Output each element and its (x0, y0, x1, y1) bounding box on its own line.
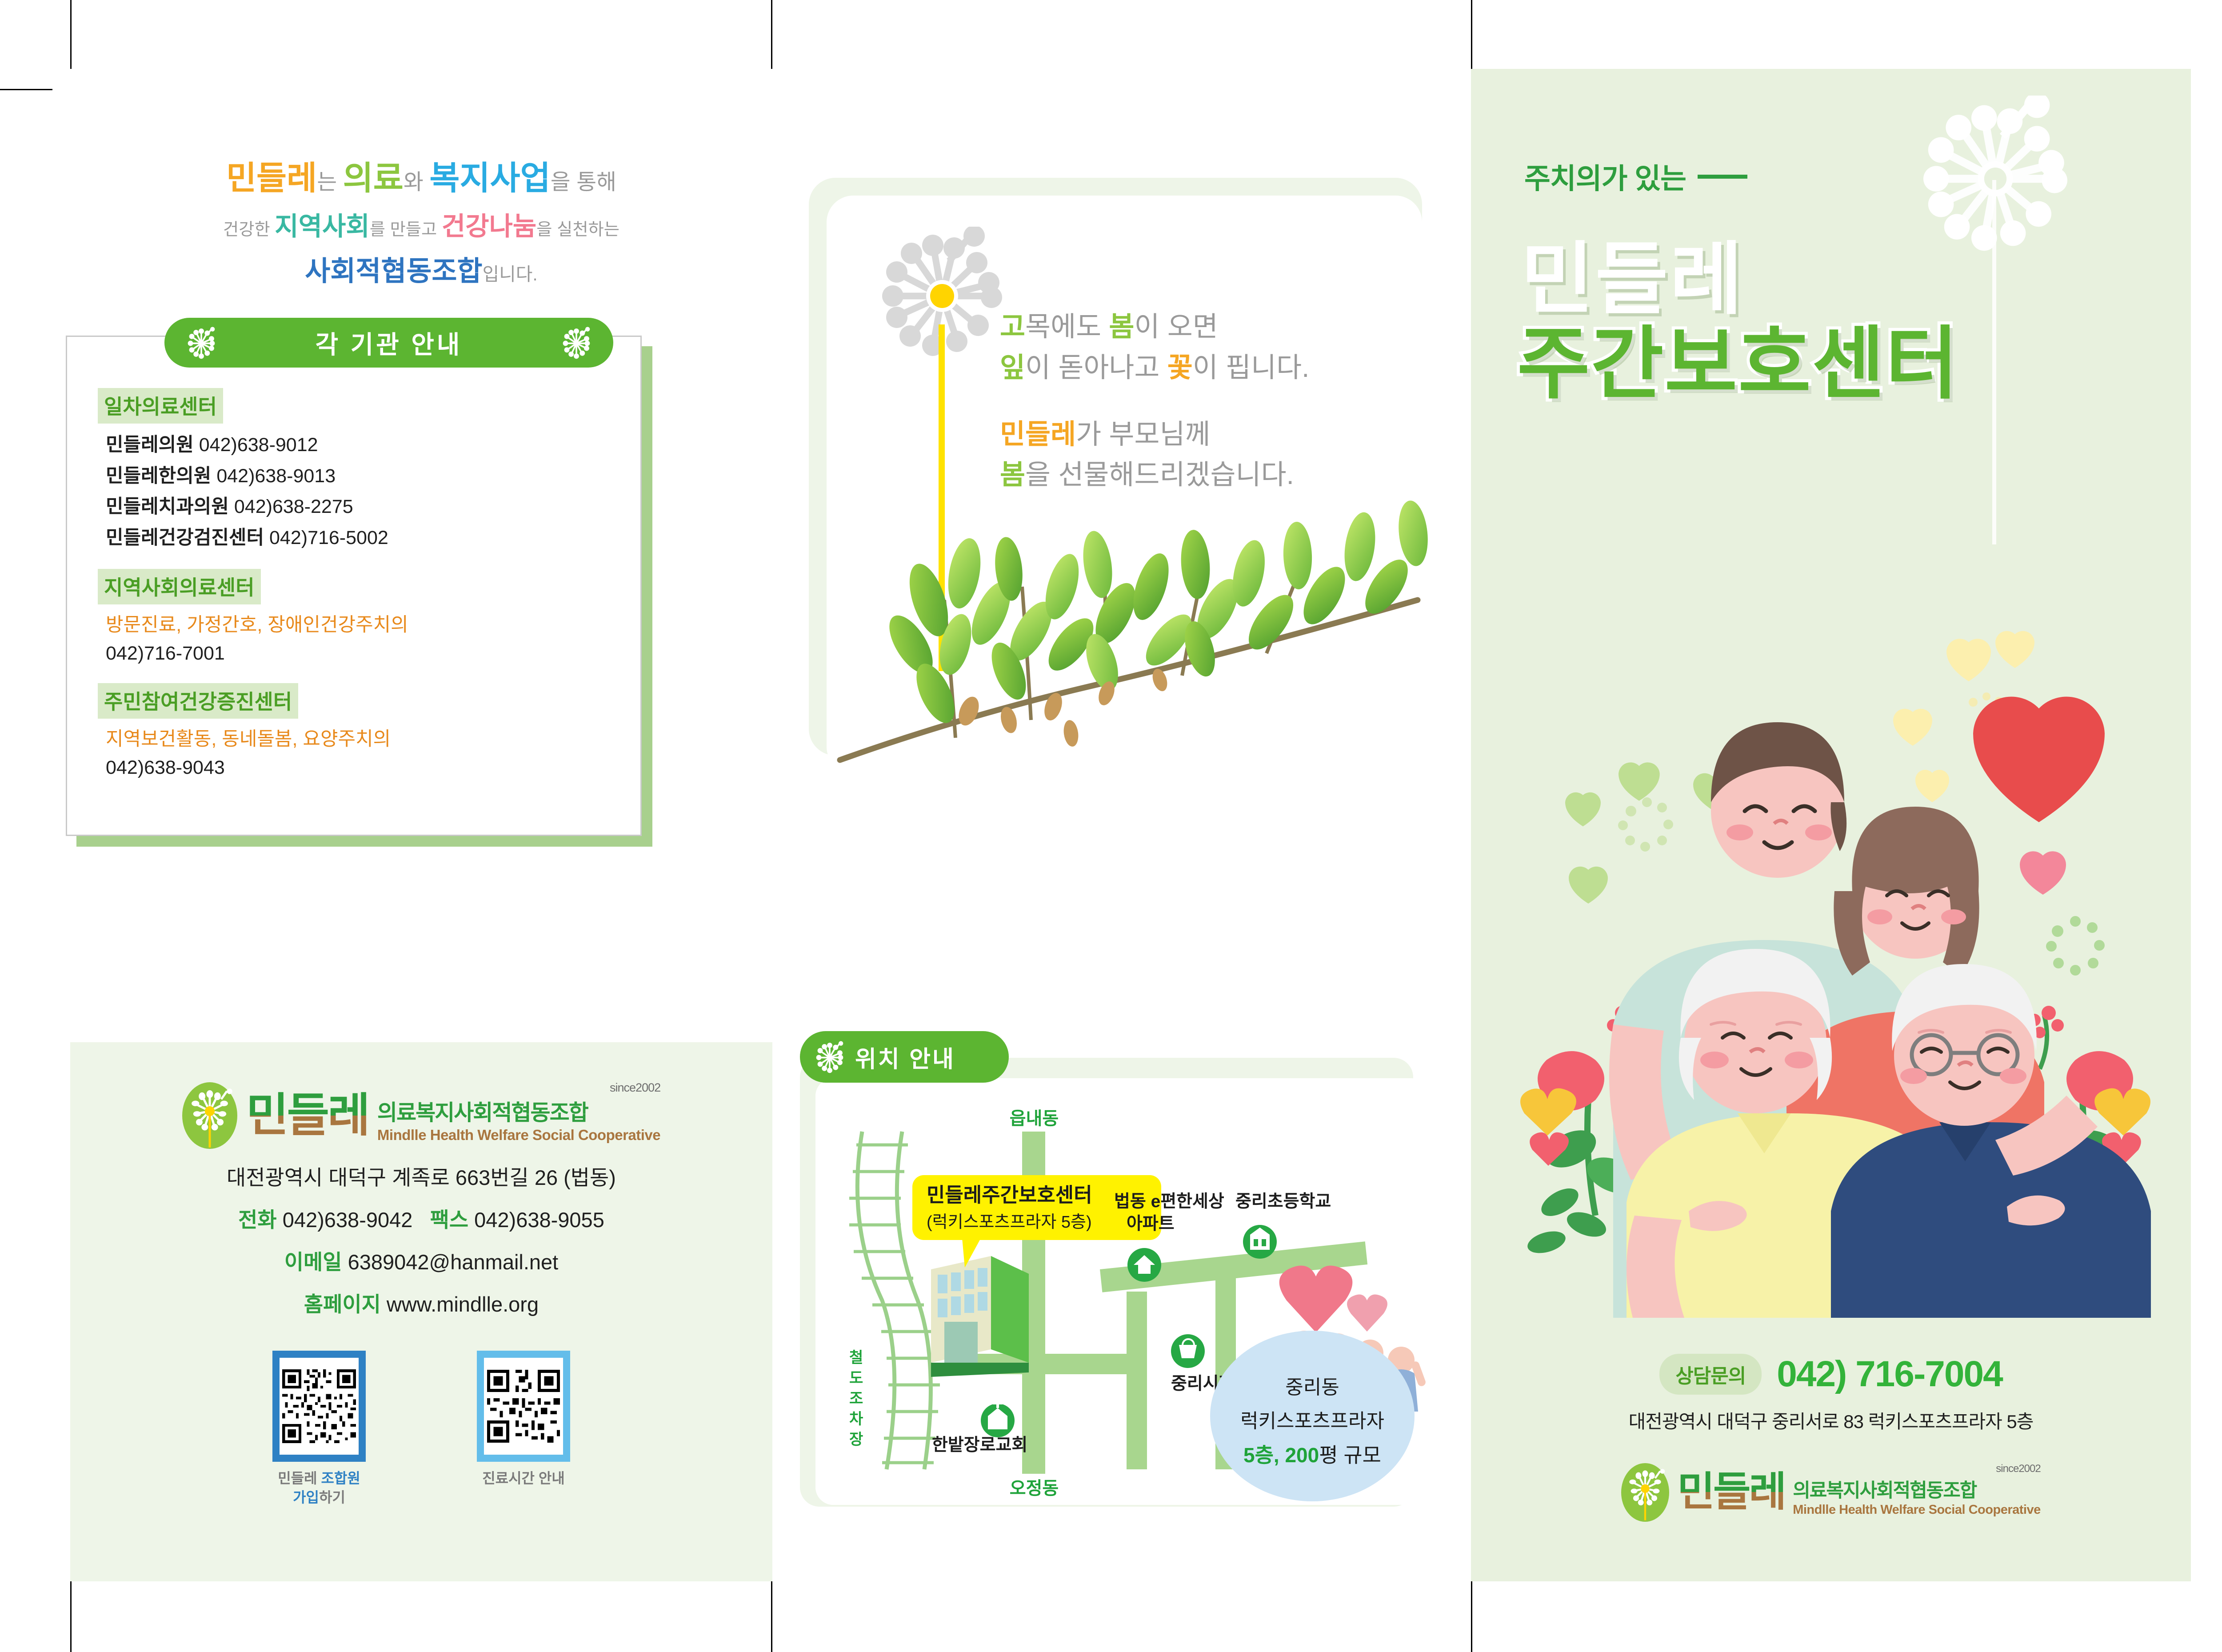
map-label-church: 한밭장로교회 (932, 1436, 1027, 1455)
qr-membership[interactable]: 민들레 조합원 가입하기 (272, 1351, 366, 1507)
message-line-3: 민들레가 부모님께 (1000, 414, 1400, 455)
map-header-pill: 위치 안내 (800, 1031, 1009, 1083)
message-line-1: 고목에도 봄이 오면 (1000, 307, 1400, 348)
service-tel: 042)638-9043 (106, 753, 613, 782)
consult-tel: 042) 716-7004 (1777, 1353, 2002, 1395)
crop-mark-top-right-v (1471, 0, 1472, 69)
crop-mark-bot-left-v (70, 1581, 72, 1652)
cover-address: 대전광역시 대덕구 중리서로 83 럭키스포츠프라자 5층 (1471, 1407, 2191, 1434)
homepage-value: www.mindlle.org (387, 1292, 539, 1316)
brand-subtitle-kr: 의료복지사회적협동조합 (377, 1095, 660, 1127)
text-run: 꽃 (1167, 352, 1193, 383)
text-run: 가 부모님께 (1076, 419, 1210, 450)
svg-text:장: 장 (849, 1431, 863, 1448)
map-bubble-line2: 럭키스포츠프라자 (1240, 1410, 1384, 1432)
institution-guide-panel: 민들레는 의료와 복지사업을 통해 건강한 지역사회를 만들고 건강나눔을 실천… (70, 69, 772, 1042)
clinic-tel: 042)638-9012 (199, 434, 318, 456)
clinic-name: 민들레한의원 (106, 465, 211, 487)
crop-mark-bot-right-v (1471, 1581, 1472, 1652)
clinic-tel: 042)638-9013 (216, 465, 336, 487)
section-title: 주민참여건강증진센터 (98, 683, 298, 719)
fax-label: 팩스 (430, 1208, 468, 1232)
qr-caption-part: 민들레 (278, 1470, 321, 1486)
brand-logo-side: since2002 의료복지사회적협동조합 Mindlle Health Wel… (377, 1088, 660, 1144)
text-run: 건강나눔 (442, 212, 536, 241)
dandelion-icon (813, 1040, 846, 1073)
list-item: 민들레치과의원 042)638-2275 (106, 492, 613, 523)
crop-mark-top-left-v (70, 0, 72, 69)
text-run: 목에도 (1025, 312, 1109, 342)
text-run: 민들레 (1000, 419, 1076, 450)
map-bubble-line1: 중리동 (1285, 1376, 1339, 1398)
list-item: 민들레한의원 042)638-9013 (106, 461, 613, 492)
phone-value: 042)638-9042 (283, 1208, 413, 1232)
consult-row: 상담문의 042) 716-7004 (1471, 1353, 2191, 1395)
dandelion-stem (1992, 180, 1996, 544)
clinic-tel: 042)638-2275 (234, 496, 353, 517)
guide-header-label: 각 기관 안내 (316, 325, 463, 361)
map-graphic[interactable]: 민들레주간보호센터 (럭키스포츠프라자 5층) 읍내동 오정동 철 도 조 차 … (815, 1078, 1429, 1505)
text-run: 를 만들고 (370, 220, 442, 239)
cover-dash (1698, 175, 1747, 179)
text-run: 을 실천하는 (536, 220, 619, 239)
family-illustration (1480, 624, 2191, 1318)
tagline-block: 민들레는 의료와 복지사업을 통해 건강한 지역사회를 만들고 건강나눔을 실천… (70, 158, 772, 289)
list-item: 민들레건강검진센터 042)716-5002 (106, 523, 613, 554)
tagline-line-3: 사회적협동조합입니다. (70, 254, 772, 289)
map-header-label: 위치 안내 (855, 1040, 955, 1074)
email-value: 6389042@hanmail.net (348, 1250, 559, 1274)
cover-subtitle-text: 주치의가 있는 (1524, 156, 1686, 197)
service-tel: 042)716-7001 (106, 639, 613, 668)
location-map-panel: 위치 안내 (800, 1031, 1431, 1520)
org-address: 대전광역시 대덕구 계족로 663번길 26 (법동) (70, 1160, 772, 1191)
message-card-panel: 고목에도 봄이 오면 잎이 돋아나고 꽃이 핍니다. 민들레가 부모님께 봄을 … (809, 178, 1422, 827)
guide-sections: 일차의료센터 민들레의원 042)638-9012 민들레한의원 042)638… (98, 388, 613, 797)
guide-header-pill: 각 기관 안내 (164, 318, 613, 368)
map-label-railyard: 철 도 조 차 장 (849, 1349, 863, 1448)
clinic-tel: 042)716-5002 (269, 527, 388, 548)
crop-mark-top-left-h (0, 89, 52, 90)
qr-caption-highlight: 조합원 (321, 1470, 360, 1486)
brand-logo-side: since2002 의료복지사회적협동조합 Mindlle Health Wel… (1793, 1468, 2041, 1517)
text-run: 건강한 (223, 220, 275, 239)
cover-subtitle: 주치의가 있는 (1524, 156, 1747, 197)
text-run: 사회적협동조합 (305, 256, 482, 287)
brand-subtitle-en: Mindlle Health Welfare Social Cooperativ… (377, 1127, 660, 1144)
qr-hours[interactable]: 진료시간 안내 (477, 1351, 570, 1507)
brand-name-kr: 민들레 (246, 1090, 368, 1141)
section-title: 지역사회의료센터 (98, 569, 261, 604)
text-run: 는 (317, 170, 343, 194)
crop-mark-top-mid-v (771, 0, 772, 69)
cover-contact-block: 상담문의 042) 716-7004 대전광역시 대덕구 중리서로 83 럭키스… (1471, 1353, 2191, 1522)
brand-subtitle-kr: 의료복지사회적협동조합 (1793, 1475, 2041, 1503)
tagline-line-1: 민들레는 의료와 복지사업을 통해 (70, 158, 772, 199)
svg-text:차: 차 (849, 1411, 863, 1428)
organization-info-panel: 민들레 since2002 의료복지사회적협동조합 Mindlle Health… (70, 1042, 772, 1581)
dandelion-logo-icon (1621, 1463, 1669, 1522)
brand-logo-korean: 민들레 (1677, 1473, 1785, 1512)
map-label-south: 오정동 (1010, 1479, 1059, 1498)
map-callout-sub: (럭키스포츠프라자 5층) (927, 1213, 1092, 1232)
tagline-line-2: 건강한 지역사회를 만들고 건강나눔을 실천하는 (70, 211, 772, 243)
brand-logo: 민들레 since2002 의료복지사회적협동조합 Mindlle Health… (70, 1082, 772, 1149)
brand-subtitle-en: Mindlle Health Welfare Social Cooperativ… (1793, 1503, 2041, 1517)
text-run: 잎 (1000, 352, 1025, 383)
brand-logo-korean: 민들레 (246, 1094, 368, 1138)
service-names: 방문진료, 가정간호, 장애인건강주치의 (106, 611, 613, 640)
text-run: 이 돋아나고 (1025, 352, 1167, 383)
clinic-list: 민들레의원 042)638-9012 민들레한의원 042)638-9013 민… (106, 430, 613, 554)
text-run: 고 (1000, 312, 1025, 342)
qr-caption: 민들레 조합원 가입하기 (272, 1469, 366, 1507)
guide-box-wrap: 각 기관 안내 (66, 336, 652, 847)
svg-text:철: 철 (849, 1349, 863, 1366)
list-item: 민들레의원 042)638-9012 (106, 430, 613, 461)
text-run: 을 통해 (551, 170, 616, 194)
text-run: 복지사업 (429, 160, 550, 196)
crop-mark-bot-mid-v (771, 1581, 772, 1652)
map-label-school: 중리초등학교 (1235, 1192, 1331, 1211)
fax-value: 042)638-9055 (474, 1208, 604, 1232)
text-run: 민들레 (226, 160, 317, 196)
text-run: 이 핍니다. (1193, 352, 1310, 383)
qr-code-image[interactable] (280, 1358, 359, 1455)
brand-since: since2002 (1996, 1463, 2040, 1475)
brand-logo: 민들레 since2002 의료복지사회적협동조합 Mindlle Health… (1471, 1463, 2191, 1522)
qr-code-row: 민들레 조합원 가입하기 (70, 1351, 772, 1507)
text-run: 와 (404, 170, 430, 194)
brand-since: since2002 (610, 1081, 660, 1095)
text-run: 이 오면 (1134, 312, 1218, 342)
brand-name-kr: 민들레 (1677, 1469, 1785, 1515)
qr-frame[interactable] (477, 1351, 570, 1462)
org-homepage-row: 홈페이지 www.mindlle.org (70, 1287, 772, 1318)
org-email-row: 이메일 6389042@hanmail.net (70, 1245, 772, 1276)
text-run: 지역사회 (275, 212, 369, 241)
homepage-label: 홈페이지 (304, 1292, 381, 1316)
service-list: 지역보건활동, 동네돌봄, 요양주치의 042)638-9043 (106, 725, 613, 782)
section-title: 일차의료센터 (98, 388, 223, 424)
map-bubble-line3: 5층, 200평 규모 (1243, 1444, 1381, 1467)
guide-section-health-promotion: 주민참여건강증진센터 지역보건활동, 동네돌봄, 요양주치의 042)638-9… (98, 683, 613, 782)
svg-text:도: 도 (849, 1370, 863, 1387)
guide-section-primary-care: 일차의료센터 민들레의원 042)638-9012 민들레한의원 042)638… (98, 388, 613, 554)
svg-text:조: 조 (849, 1390, 863, 1407)
dandelion-logo-icon (182, 1082, 237, 1149)
map-card[interactable]: 민들레주간보호센터 (럭키스포츠프라자 5층) 읍내동 오정동 철 도 조 차 … (815, 1078, 1429, 1505)
qr-code-image[interactable] (484, 1358, 563, 1455)
cover-title-line-2: 주간보호센터 (1517, 300, 1959, 414)
text-run: 의료 (343, 160, 404, 196)
service-list: 방문진료, 가정간호, 장애인건강주치의 042)716-7001 (106, 611, 613, 668)
service-names: 지역보건활동, 동네돌봄, 요양주치의 (106, 725, 613, 754)
dandelion-icon (560, 326, 593, 359)
email-label: 이메일 (284, 1250, 342, 1274)
map-label-apartment-1: 법동 e편한세상 (1114, 1192, 1224, 1211)
map-callout-title: 민들레주간보호센터 (927, 1184, 1092, 1206)
message-line-2: 잎이 돋아나고 꽃이 핍니다. (1000, 348, 1400, 388)
text-run: 입니다. (483, 264, 538, 284)
clinic-name: 민들레치과의원 (106, 496, 229, 517)
guide-section-community-care: 지역사회의료센터 방문진료, 가정간호, 장애인건강주치의 042)716-70… (98, 569, 613, 668)
clinic-name: 민들레건강검진센터 (106, 527, 264, 548)
map-label-north: 읍내동 (1010, 1109, 1059, 1128)
qr-caption: 진료시간 안내 (477, 1469, 570, 1488)
dandelion-icon (185, 326, 218, 359)
qr-caption-part-2: 하기 (319, 1489, 345, 1505)
map-label-apartment-2: 아파트 (1127, 1214, 1175, 1233)
consult-badge: 상담문의 (1659, 1354, 1762, 1395)
qr-caption-highlight-2: 가입 (293, 1489, 319, 1505)
cover-panel: 주치의가 있는 민들레 주간보호센터 (1471, 69, 2191, 1581)
text-run: 봄 (1109, 312, 1134, 342)
org-phone-row: 전화 042)638-9042 팩스 042)638-9055 (70, 1203, 772, 1233)
qr-frame[interactable] (272, 1351, 366, 1462)
phone-label: 전화 (238, 1208, 276, 1232)
tree-branch-image (822, 453, 1435, 791)
clinic-name: 민들레의원 (106, 434, 194, 456)
